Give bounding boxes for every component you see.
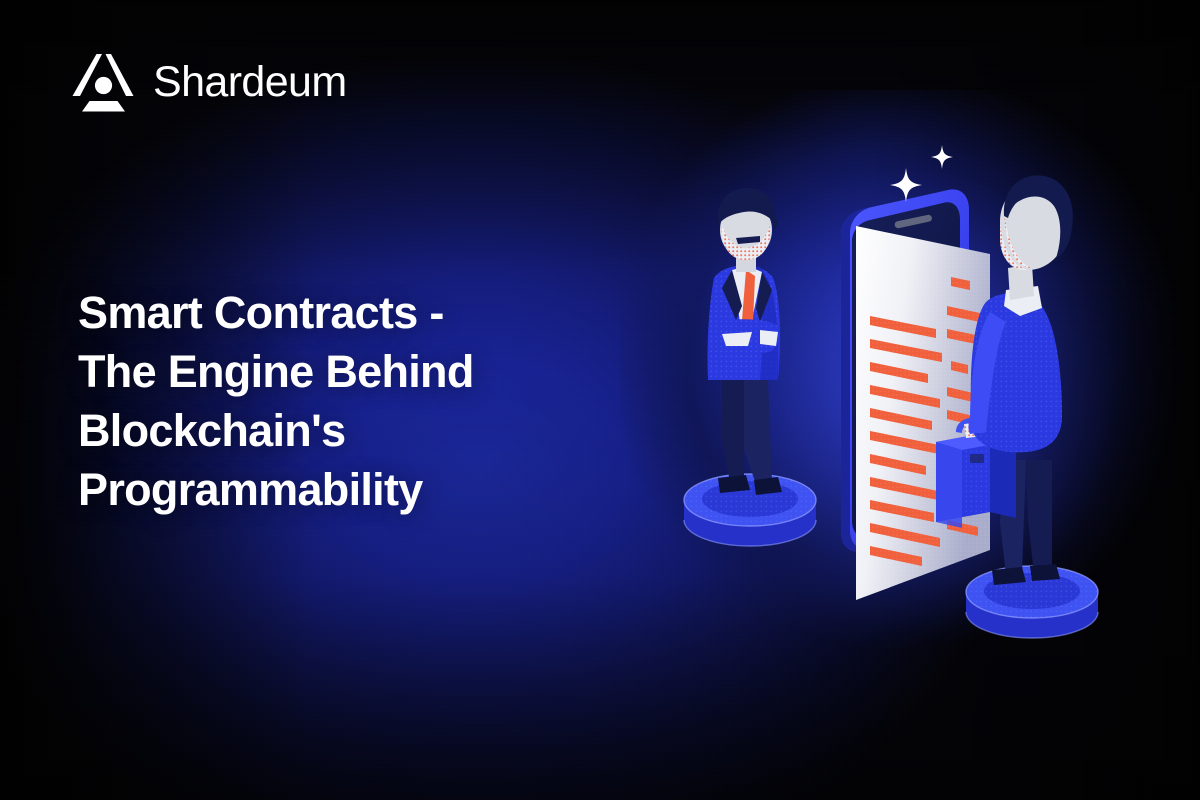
headline-line-2: The Engine Behind — [78, 342, 618, 401]
circular-platform-left — [684, 474, 816, 546]
left-person-hand-1 — [722, 332, 752, 346]
brand-name: Shardeum — [153, 61, 347, 104]
right-person-shoe-2 — [1030, 564, 1060, 581]
headline-line-4: Programmability — [78, 460, 618, 519]
headline-line-1: Smart Contracts - — [78, 283, 618, 342]
headline-line-3: Blockchain's — [78, 401, 618, 460]
right-person-shoe-1 — [992, 567, 1026, 585]
brand-logo[interactable]: Shardeum — [72, 52, 347, 112]
left-person-shoe-1 — [718, 475, 750, 493]
illustration-svg — [660, 130, 1160, 670]
page-title: Smart Contracts - The Engine Behind Bloc… — [78, 283, 618, 519]
smart-contract-isometric-illustration — [660, 130, 1160, 670]
shardeum-triangle-logo-icon — [72, 52, 138, 112]
left-person-hand-2 — [760, 330, 778, 346]
sparkle-small — [931, 145, 953, 169]
left-person-shoe-2 — [754, 477, 782, 495]
blog-banner: Shardeum Smart Contracts - The Engine Be… — [0, 0, 1200, 800]
